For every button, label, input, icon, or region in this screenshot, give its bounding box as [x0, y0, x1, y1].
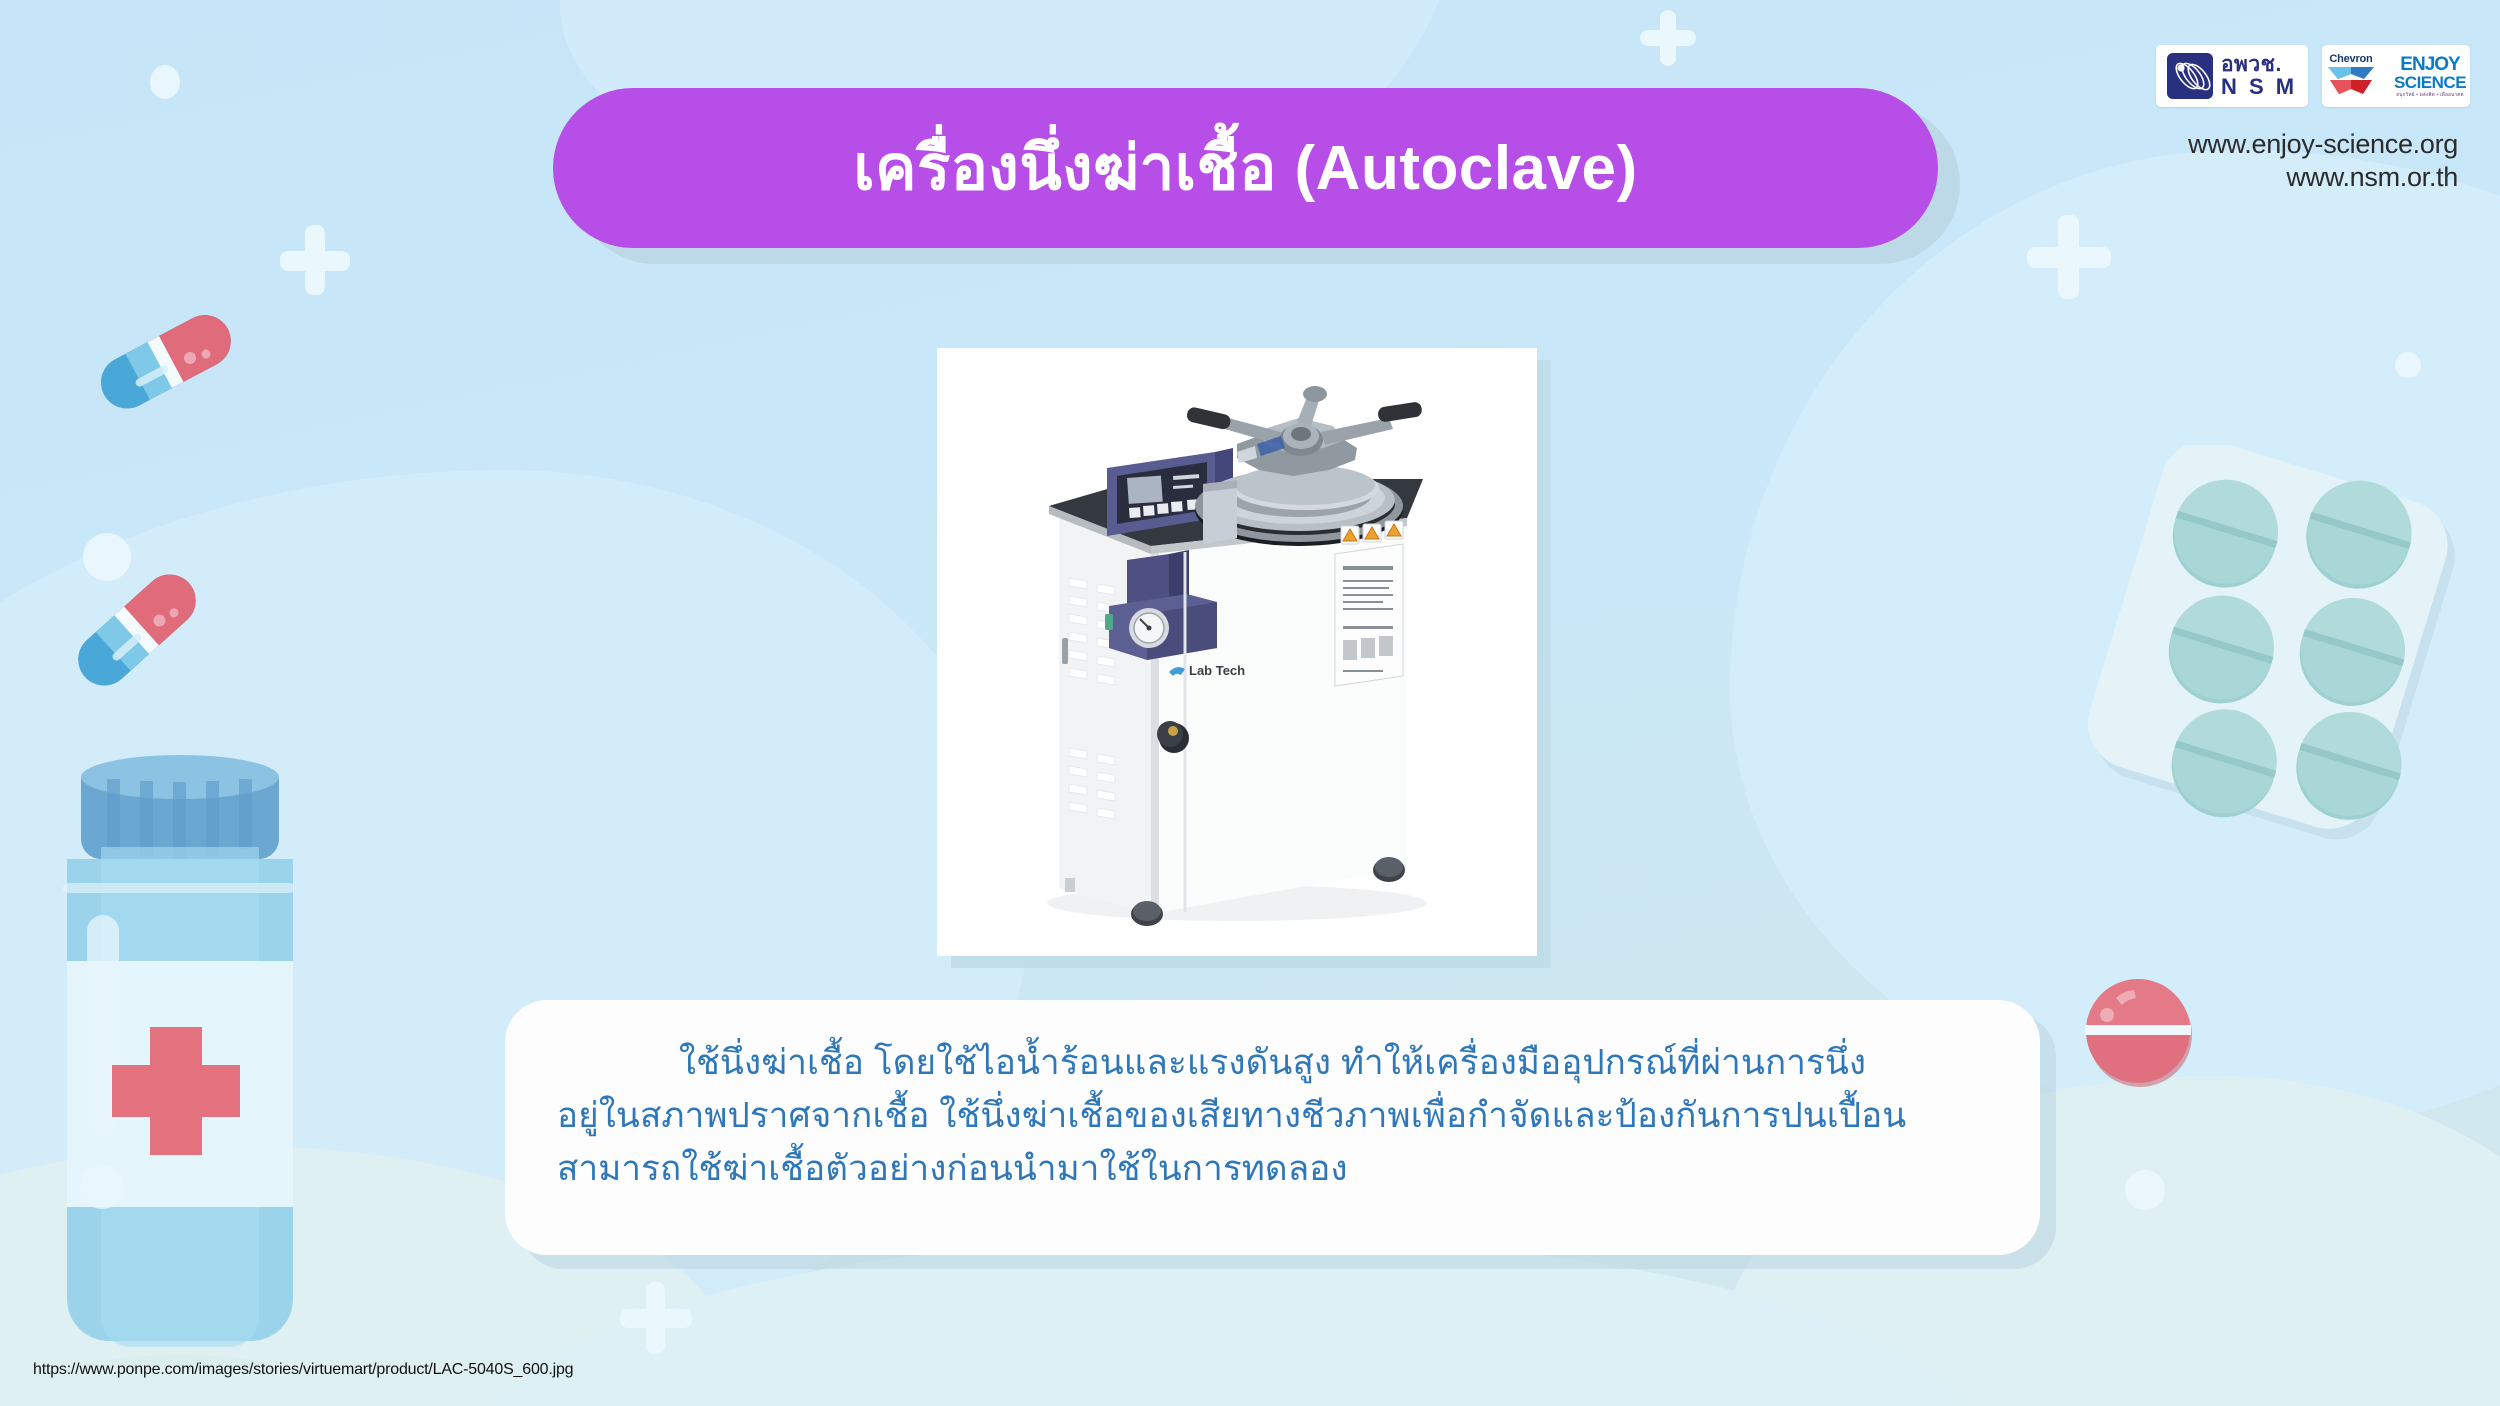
capsule-pill-icon	[42, 555, 232, 705]
autoclave-illustration: Lab Tech	[937, 348, 1537, 956]
url-nsm[interactable]: www.nsm.or.th	[2188, 161, 2458, 194]
chevron-mark	[2326, 65, 2376, 99]
description-text: ใช้นึ่งฆ่าเชื้อ โดยใช้ไอน้ำร้อนและแรงดัน…	[557, 1036, 1988, 1196]
product-photo-frame: Lab Tech	[937, 348, 1537, 956]
source-url: https://www.ponpe.com/images/stories/vir…	[33, 1361, 573, 1379]
url-enjoy-science[interactable]: www.enjoy-science.org	[2188, 128, 2458, 161]
enjoy-wordmark: ENJOY	[2400, 55, 2459, 74]
description-line-2: อยู่ในสภาพปราศจากเชื้อ ใช้นึ่งฆ่าเชื้อขอ…	[557, 1089, 1988, 1142]
partner-logos: อพวช. N S M Chevron ENJOY SCIENCE สนุกวิ…	[2156, 45, 2470, 107]
decor-plus-icon	[1640, 10, 1696, 66]
enjoy-science-tagline: สนุกวิทย์ • พลังคิด • เพื่ออนาคต	[2396, 93, 2464, 98]
page-title-banner: เครื่องนึ่งฆ่าเชื้อ (Autoclave)	[553, 88, 1938, 248]
decor-plus-icon	[620, 1282, 692, 1354]
description-card: ใช้นึ่งฆ่าเชื้อ โดยใช้ไอน้ำร้อนและแรงดัน…	[505, 1000, 2040, 1255]
science-wordmark: SCIENCE	[2394, 74, 2466, 91]
decor-plus-icon	[2027, 215, 2111, 299]
chevron-logo: Chevron	[2326, 53, 2376, 99]
decor-dot	[2125, 1170, 2165, 1210]
chevron-enjoy-science-logo: Chevron ENJOY SCIENCE สนุกวิทย์ • พลังคิ…	[2322, 45, 2470, 107]
nsm-thai-acronym: อพวช.	[2221, 54, 2297, 75]
description-card-wrapper: ใช้นึ่งฆ่าเชื้อ โดยใช้ไอน้ำร้อนและแรงดัน…	[505, 1000, 2040, 1255]
product-photo: Lab Tech	[937, 348, 1537, 956]
blister-pack-icon	[2065, 445, 2485, 845]
description-line-1: ใช้นึ่งฆ่าเชื้อ โดยใช้ไอน้ำร้อนและแรงดัน…	[557, 1036, 1988, 1089]
description-line-3: สามารถใช้ฆ่าเชื้อตัวอย่างก่อนนำมาใช้ในกา…	[557, 1142, 1988, 1195]
decor-plus-icon	[280, 225, 350, 295]
capsule-pill-icon	[70, 290, 260, 430]
website-urls: www.enjoy-science.org www.nsm.or.th	[2188, 128, 2458, 194]
title-banner: เครื่องนึ่งฆ่าเชื้อ (Autoclave)	[553, 88, 1938, 248]
nsm-latin-acronym: N S M	[2221, 76, 2297, 98]
decor-dot	[2395, 352, 2421, 378]
enjoy-science-mark: ENJOY SCIENCE สนุกวิทย์ • พลังคิด • เพื่…	[2394, 55, 2466, 98]
nsm-logo-text: อพวช. N S M	[2221, 54, 2297, 98]
medicine-bottle-icon	[45, 747, 315, 1367]
decor-dot	[150, 65, 180, 99]
svg-text:Lab Tech: Lab Tech	[1189, 663, 1245, 678]
page-title: เครื่องนึ่งฆ่าเชื้อ (Autoclave)	[853, 119, 1637, 217]
round-pill-icon	[2082, 975, 2197, 1090]
nsm-logo-mark	[2167, 53, 2213, 99]
chevron-wordmark: Chevron	[2329, 53, 2372, 65]
nsm-logo: อพวช. N S M	[2156, 45, 2308, 107]
